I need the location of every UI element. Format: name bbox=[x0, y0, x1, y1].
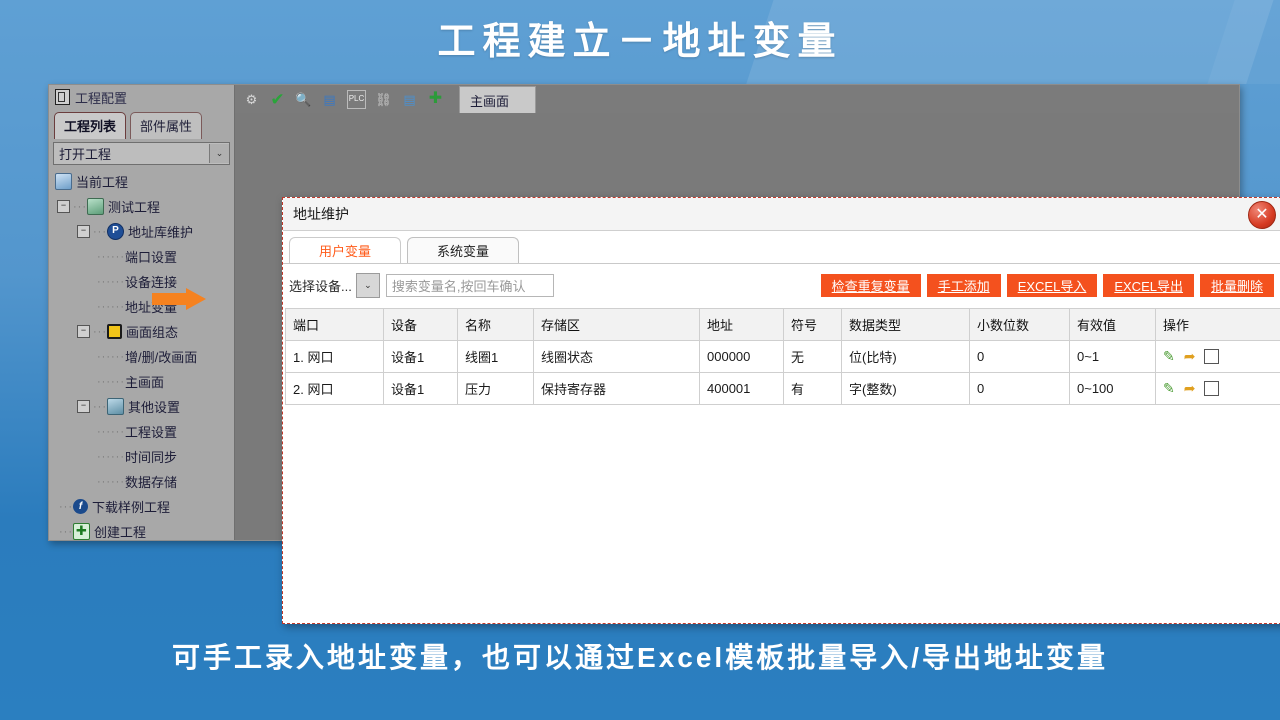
tree-label: 其他设置 bbox=[128, 397, 180, 416]
copy-icon[interactable]: ➦ bbox=[1184, 380, 1196, 397]
manual-add-label: 手工添加 bbox=[938, 276, 990, 295]
excel-import-label: EXCEL导入 bbox=[1018, 276, 1087, 295]
collapse-toggle-icon[interactable]: − bbox=[77, 400, 90, 413]
tree-item-address-variable[interactable]: ······ 地址变量 bbox=[49, 294, 234, 319]
cell-device: 设备1 bbox=[384, 373, 458, 404]
tree-item-test-project[interactable]: − ··· 测试工程 bbox=[49, 194, 234, 219]
tree-label: 下载样例工程 bbox=[92, 497, 170, 516]
collapse-toggle-icon[interactable]: − bbox=[57, 200, 70, 213]
tree-connector: ··· bbox=[73, 201, 87, 213]
tree-connector: ······ bbox=[97, 476, 125, 488]
tree-label: 工程设置 bbox=[125, 422, 177, 441]
cell-name: 压力 bbox=[458, 373, 534, 404]
other-settings-icon bbox=[107, 398, 124, 415]
column-header-area: 存储区 bbox=[534, 309, 700, 340]
row-checkbox[interactable] bbox=[1204, 349, 1219, 364]
tree-label: 创建工程 bbox=[94, 522, 146, 541]
batch-delete-label: 批量删除 bbox=[1211, 276, 1263, 295]
tree-item-other-settings[interactable]: − ··· 其他设置 bbox=[49, 394, 234, 419]
open-project-combo-value: 打开工程 bbox=[59, 144, 115, 163]
sidebar: 工程配置 工程列表 部件属性 打开工程 ⌄ 当前工程 − ··· 测试工程 bbox=[49, 85, 235, 540]
close-icon[interactable]: ✕ bbox=[1248, 201, 1276, 229]
magnifier-icon[interactable]: 🔍 bbox=[295, 91, 312, 108]
tree-connector: ··· bbox=[93, 326, 107, 338]
tree-item-main-screen[interactable]: ······ 主画面 bbox=[49, 369, 234, 394]
slide-caption: 可手工录入地址变量，也可以通过Excel模板批量导入/导出地址变量 bbox=[0, 636, 1280, 676]
cell-datatype: 位(比特) bbox=[842, 341, 970, 372]
tree-label: 测试工程 bbox=[108, 197, 160, 216]
project-icon bbox=[87, 198, 104, 215]
dialog-titlebar: 地址维护 ✕ bbox=[283, 198, 1280, 231]
cell-address: 000000 bbox=[700, 341, 784, 372]
column-header-decimals: 小数位数 bbox=[970, 309, 1070, 340]
list-icon[interactable]: ▤ bbox=[321, 91, 338, 108]
monitor-icon bbox=[55, 173, 72, 190]
tree-item-download-sample[interactable]: ··· f 下载样例工程 bbox=[49, 494, 234, 519]
excel-import-button[interactable]: EXCEL导入 bbox=[1007, 274, 1098, 297]
slide-header: 工程建立－地址变量 bbox=[0, 0, 1280, 84]
tree-item-device-connection[interactable]: ······ 设备连接 bbox=[49, 269, 234, 294]
cell-area: 保持寄存器 bbox=[534, 373, 700, 404]
open-project-combo[interactable]: 打开工程 ⌄ bbox=[53, 142, 230, 165]
column-header-datatype: 数据类型 bbox=[842, 309, 970, 340]
cell-address: 400001 bbox=[700, 373, 784, 404]
tree-connector: ··· bbox=[93, 401, 107, 413]
edit-icon[interactable]: ✎ bbox=[1163, 380, 1175, 397]
download-sample-icon: f bbox=[73, 499, 88, 514]
tree-item-screen-config[interactable]: − ··· 画面组态 bbox=[49, 319, 234, 344]
tree-label: 数据存储 bbox=[125, 472, 177, 491]
tree-connector: ······ bbox=[97, 451, 125, 463]
cell-port: 1. 网口 bbox=[286, 341, 384, 372]
table-row[interactable]: 1. 网口 设备1 线圈1 线圈状态 000000 无 位(比特) 0 0~1 … bbox=[286, 341, 1280, 373]
cell-decimals: 0 bbox=[970, 341, 1070, 372]
address-maintenance-dialog: 地址维护 ✕ 用户变量 系统变量 选择设备... ⌄ 搜索变量名,按回车确认 检… bbox=[282, 197, 1280, 624]
tree-item-time-sync[interactable]: ······ 时间同步 bbox=[49, 444, 234, 469]
cell-range: 0~1 bbox=[1070, 341, 1156, 372]
tree-item-create-project[interactable]: ··· ✚ 创建工程 bbox=[49, 519, 234, 544]
plc-icon[interactable]: PLC bbox=[347, 90, 366, 109]
tree-connector: ······ bbox=[97, 376, 125, 388]
cell-datatype: 字(整数) bbox=[842, 373, 970, 404]
tree-label: 地址库维护 bbox=[128, 222, 193, 241]
dialog-title: 地址维护 bbox=[293, 204, 349, 224]
tree-item-current-project[interactable]: 当前工程 bbox=[49, 169, 234, 194]
cell-device: 设备1 bbox=[384, 341, 458, 372]
gear-icon[interactable]: ⚙ bbox=[243, 91, 260, 108]
cell-area: 线圈状态 bbox=[534, 341, 700, 372]
collapse-toggle-icon[interactable]: − bbox=[77, 325, 90, 338]
check-duplicate-label: 检查重复变量 bbox=[832, 276, 910, 295]
tree-connector: ······ bbox=[97, 351, 125, 363]
edit-icon[interactable]: ✎ bbox=[1163, 348, 1175, 365]
cell-port: 2. 网口 bbox=[286, 373, 384, 404]
excel-export-label: EXCEL导出 bbox=[1114, 276, 1183, 295]
chevron-down-icon[interactable]: ⌄ bbox=[209, 144, 229, 163]
tab-system-variables[interactable]: 系统变量 bbox=[407, 237, 519, 263]
tree-label: 画面组态 bbox=[126, 322, 178, 341]
excel-export-button[interactable]: EXCEL导出 bbox=[1103, 274, 1194, 297]
tree-label: 端口设置 bbox=[125, 247, 177, 266]
column-header-operation: 操作 bbox=[1156, 309, 1280, 340]
project-tree: 当前工程 − ··· 测试工程 − ··· P 地址库维护 ······ 端口设… bbox=[49, 165, 234, 544]
page-title: 工程建立－地址变量 bbox=[0, 10, 1280, 65]
cell-operation: ✎ ➦ bbox=[1156, 373, 1280, 404]
tree-label: 增/删/改画面 bbox=[125, 347, 197, 366]
cell-sign: 无 bbox=[784, 341, 842, 372]
table-header-row: 端口 设备 名称 存储区 地址 符号 数据类型 小数位数 有效值 操作 bbox=[286, 309, 1280, 341]
add-icon[interactable]: ✚ bbox=[427, 91, 444, 108]
cell-decimals: 0 bbox=[970, 373, 1070, 404]
dialog-toolbar: 选择设备... ⌄ 搜索变量名,按回车确认 检查重复变量 手工添加 EXCEL导… bbox=[283, 264, 1280, 302]
cell-range: 0~100 bbox=[1070, 373, 1156, 404]
project-config-icon bbox=[55, 89, 70, 105]
variables-table: 端口 设备 名称 存储区 地址 符号 数据类型 小数位数 有效值 操作 1. 网… bbox=[285, 308, 1280, 405]
manual-add-button[interactable]: 手工添加 bbox=[927, 274, 1001, 297]
dialog-action-buttons: 检查重复变量 手工添加 EXCEL导入 EXCEL导出 批量删除 bbox=[821, 274, 1280, 297]
table-row[interactable]: 2. 网口 设备1 压力 保持寄存器 400001 有 字(整数) 0 0~10… bbox=[286, 373, 1280, 405]
tree-connector: ··· bbox=[93, 226, 107, 238]
sidebar-tabs: 工程列表 部件属性 bbox=[49, 109, 234, 139]
tree-connector: ······ bbox=[97, 301, 125, 313]
application-window: 工程配置 工程列表 部件属性 打开工程 ⌄ 当前工程 − ··· 测试工程 bbox=[48, 84, 1240, 541]
column-header-port: 端口 bbox=[286, 309, 384, 340]
batch-delete-button[interactable]: 批量删除 bbox=[1200, 274, 1274, 297]
address-library-icon: P bbox=[107, 223, 124, 240]
tab-component-properties[interactable]: 部件属性 bbox=[130, 112, 202, 139]
tree-connector: ······ bbox=[97, 276, 125, 288]
screen-icon bbox=[107, 324, 122, 339]
dialog-tabs: 用户变量 系统变量 bbox=[283, 231, 1280, 264]
column-header-range: 有效值 bbox=[1070, 309, 1156, 340]
tree-label: 时间同步 bbox=[125, 447, 177, 466]
tree-connector: ··· bbox=[59, 501, 73, 513]
device-select-value: 选择设备... bbox=[289, 276, 354, 295]
create-project-icon: ✚ bbox=[73, 523, 90, 540]
tree-connector: ······ bbox=[97, 251, 125, 263]
tab-project-list[interactable]: 工程列表 bbox=[54, 112, 126, 139]
column-header-name: 名称 bbox=[458, 309, 534, 340]
check-duplicate-button[interactable]: 检查重复变量 bbox=[821, 274, 921, 297]
app-toolbar: ⚙ ✔ 🔍 ▤ PLC ⛓ ▤ ✚ 主画面 bbox=[235, 85, 1239, 113]
tab-main-screen[interactable]: 主画面 bbox=[459, 86, 536, 113]
cell-operation: ✎ ➦ bbox=[1156, 341, 1280, 372]
row-checkbox[interactable] bbox=[1204, 381, 1219, 396]
chevron-down-icon[interactable]: ⌄ bbox=[356, 273, 380, 298]
tree-label: 当前工程 bbox=[76, 172, 128, 191]
cell-name: 线圈1 bbox=[458, 341, 534, 372]
check-icon[interactable]: ✔ bbox=[269, 91, 286, 108]
network-icon[interactable]: ⛓ bbox=[375, 91, 392, 108]
sidebar-panel-header: 工程配置 bbox=[49, 85, 234, 109]
copy-icon[interactable]: ➦ bbox=[1184, 348, 1196, 365]
tree-connector: ··· bbox=[59, 526, 73, 538]
tree-item-address-library[interactable]: − ··· P 地址库维护 bbox=[49, 219, 234, 244]
document-icon[interactable]: ▤ bbox=[401, 91, 418, 108]
sidebar-panel-title: 工程配置 bbox=[75, 88, 127, 107]
device-select[interactable]: 选择设备... ⌄ bbox=[289, 273, 380, 298]
tree-item-edit-screens[interactable]: ······ 增/删/改画面 bbox=[49, 344, 234, 369]
column-header-address: 地址 bbox=[700, 309, 784, 340]
tree-label: 主画面 bbox=[125, 372, 164, 391]
column-header-sign: 符号 bbox=[784, 309, 842, 340]
pointer-arrow-icon bbox=[152, 288, 206, 310]
tree-connector: ······ bbox=[97, 426, 125, 438]
collapse-toggle-icon[interactable]: − bbox=[77, 225, 90, 238]
tree-item-data-storage[interactable]: ······ 数据存储 bbox=[49, 469, 234, 494]
search-input[interactable]: 搜索变量名,按回车确认 bbox=[386, 274, 554, 297]
tab-user-variables[interactable]: 用户变量 bbox=[289, 237, 401, 263]
tree-item-project-settings[interactable]: ······ 工程设置 bbox=[49, 419, 234, 444]
column-header-device: 设备 bbox=[384, 309, 458, 340]
tree-item-port-settings[interactable]: ······ 端口设置 bbox=[49, 244, 234, 269]
cell-sign: 有 bbox=[784, 373, 842, 404]
